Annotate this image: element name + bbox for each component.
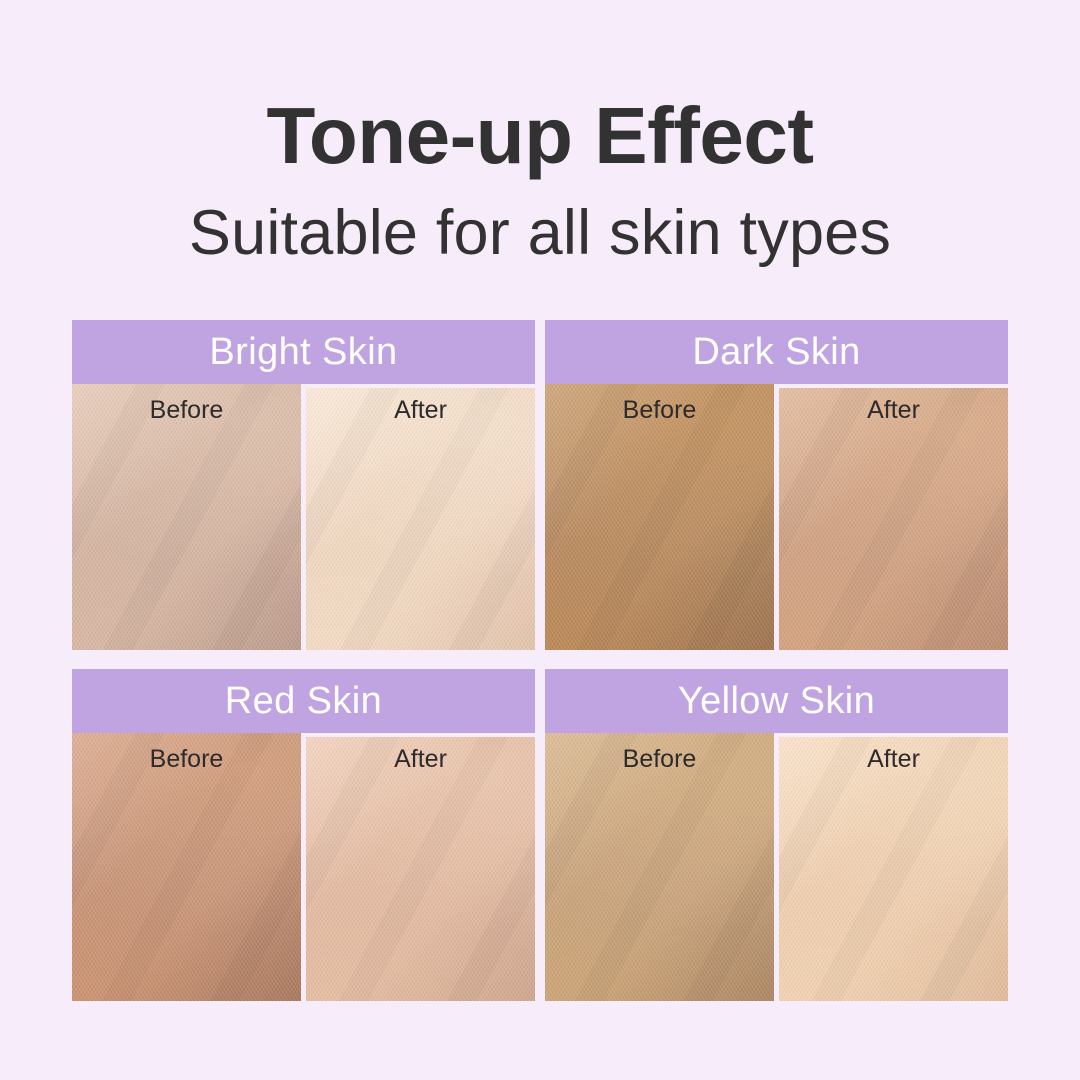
panel-red-skin: Red Skin Before [72, 669, 535, 1001]
page-title: Tone-up Effect [0, 96, 1080, 176]
skin-texture-red-before [72, 733, 301, 1001]
panel-title-yellow-skin: Yellow Skin [678, 682, 875, 720]
comparison-grid: Bright Skin Before [72, 320, 1008, 1001]
panel-header-red-skin: Red Skin [72, 669, 535, 733]
skin-texture-yellow-after [779, 737, 1008, 1001]
panel-title-dark-skin: Dark Skin [692, 333, 860, 371]
swatch-yellow-skin-before: Before [545, 733, 774, 1001]
panel-dark-skin: Dark Skin Before [545, 320, 1008, 650]
panel-header-yellow-skin: Yellow Skin [545, 669, 1008, 733]
swatch-pair-dark-skin: Before After [545, 384, 1008, 650]
swatch-dark-skin-after: After [779, 388, 1008, 650]
panel-yellow-skin: Yellow Skin Before [545, 669, 1008, 1001]
skin-texture-bright-after [306, 388, 535, 650]
skin-texture-red-after [306, 737, 535, 1001]
panel-title-bright-skin: Bright Skin [209, 333, 397, 371]
swatch-red-skin-before: Before [72, 733, 301, 1001]
skin-texture-bright-before [72, 384, 301, 650]
skin-texture-dark-before [545, 384, 774, 650]
swatch-bright-skin-before: Before [72, 384, 301, 650]
swatch-dark-skin-before: Before [545, 384, 774, 650]
skin-texture-yellow-before [545, 733, 774, 1001]
swatch-bright-skin-after: After [306, 388, 535, 650]
swatch-pair-red-skin: Before After [72, 733, 535, 1001]
swatch-pair-yellow-skin: Before After [545, 733, 1008, 1001]
swatch-red-skin-after: After [306, 737, 535, 1001]
tone-up-effect-infographic: Tone-up Effect Suitable for all skin typ… [0, 0, 1080, 1080]
page-subtitle: Suitable for all skin types [0, 202, 1080, 265]
heading-block: Tone-up Effect Suitable for all skin typ… [0, 96, 1080, 265]
swatch-yellow-skin-after: After [779, 737, 1008, 1001]
panel-header-bright-skin: Bright Skin [72, 320, 535, 384]
panel-title-red-skin: Red Skin [225, 682, 382, 720]
swatch-pair-bright-skin: Before After [72, 384, 535, 650]
skin-texture-dark-after [779, 388, 1008, 650]
panel-bright-skin: Bright Skin Before [72, 320, 535, 650]
panel-header-dark-skin: Dark Skin [545, 320, 1008, 384]
